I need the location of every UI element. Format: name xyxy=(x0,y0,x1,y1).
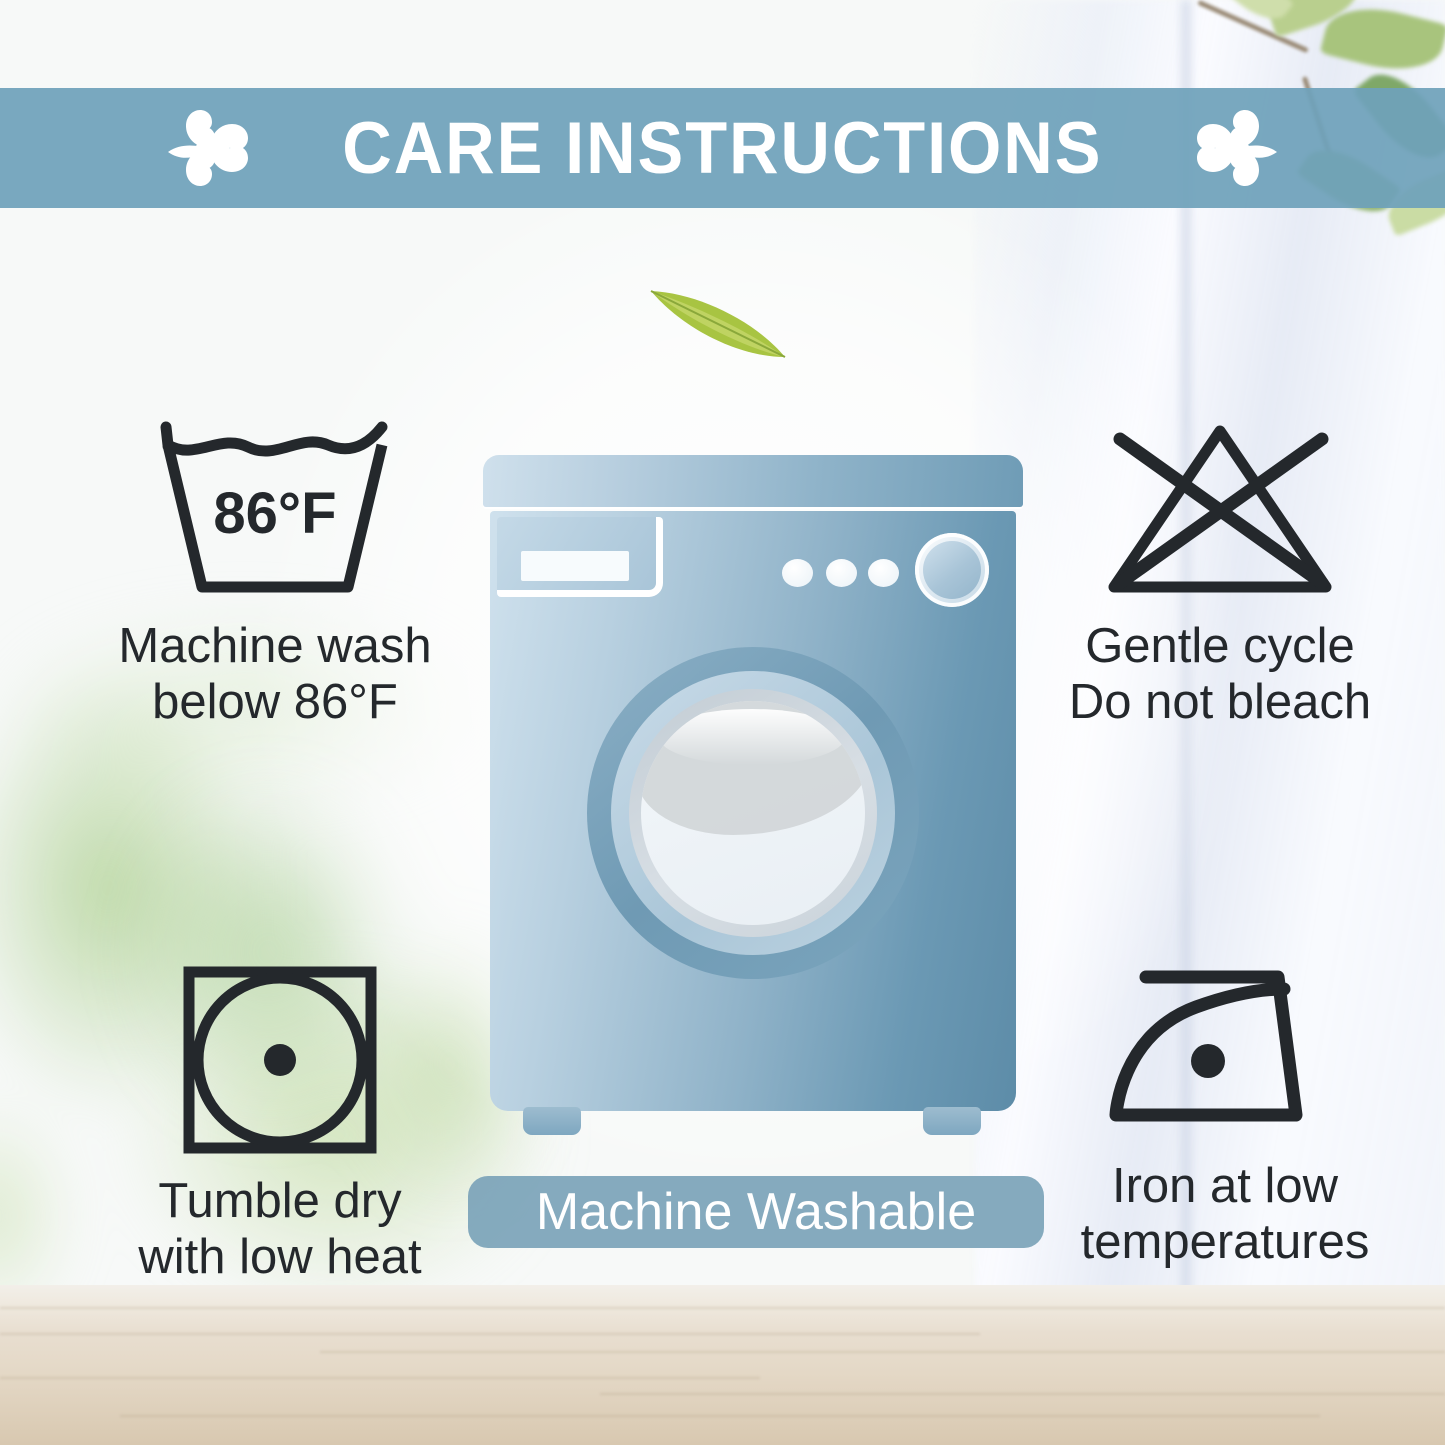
care-icon-do-not-bleach: Gentle cycle Do not bleach xyxy=(1000,415,1440,731)
status-badge-label: Machine Washable xyxy=(536,1186,976,1238)
fleur-de-lis-icon-right xyxy=(1165,100,1305,196)
care-icon-machine-wash: 86°F Machine wash below 86°F xyxy=(45,415,505,731)
caption-machine-wash: Machine wash below 86°F xyxy=(118,619,431,731)
iron-icon xyxy=(1100,965,1350,1145)
wooden-table-surface xyxy=(0,1285,1445,1445)
machine-lid xyxy=(483,455,1023,507)
caption-do-not-bleach: Gentle cycle Do not bleach xyxy=(1069,619,1371,731)
machine-foot-left xyxy=(523,1107,581,1135)
machine-foot-right xyxy=(923,1107,981,1135)
detergent-drawer-slot xyxy=(521,551,629,581)
wash-temperature-value: 86°F xyxy=(213,481,336,546)
header-banner: CARE INSTRUCTIONS xyxy=(0,88,1445,208)
crossed-triangle-icon xyxy=(1090,415,1350,605)
caption-iron: Iron at low temperatures xyxy=(1081,1159,1370,1271)
care-instructions-infographic: CARE INSTRUCTIONS xyxy=(0,0,1445,1445)
caption-tumble-dry: Tumble dry with low heat xyxy=(138,1174,421,1286)
machine-door-glass xyxy=(641,701,865,925)
floating-leaf-icon xyxy=(643,277,793,367)
control-button-3 xyxy=(868,559,899,587)
tumble-dry-square-icon xyxy=(175,960,385,1160)
wash-tub-icon: 86°F xyxy=(150,415,400,605)
heat-level-dot xyxy=(264,1044,296,1076)
control-button-1 xyxy=(782,559,813,587)
care-icon-tumble-dry: Tumble dry with low heat xyxy=(60,960,500,1286)
washing-machine-illustration xyxy=(483,455,1023,1120)
control-button-2 xyxy=(826,559,857,587)
fleur-de-lis-icon-left xyxy=(140,100,280,196)
status-badge: Machine Washable xyxy=(468,1176,1044,1248)
heat-level-dot xyxy=(1191,1044,1225,1078)
care-icon-iron: Iron at low temperatures xyxy=(1010,965,1440,1271)
page-title: CARE INSTRUCTIONS xyxy=(342,112,1102,185)
program-dial-inner xyxy=(923,541,981,599)
door-glass-highlight xyxy=(659,709,845,765)
